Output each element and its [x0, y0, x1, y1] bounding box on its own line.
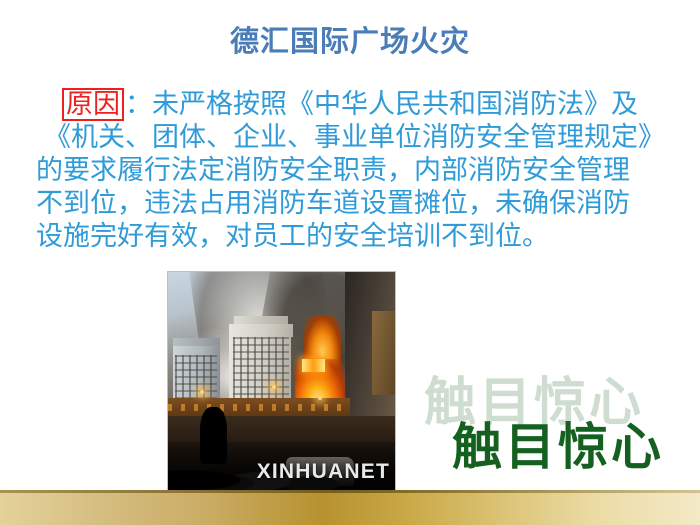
emphasis-text: 触目惊心: [452, 407, 664, 479]
body-line-3: 的要求履行法定消防安全职责，内部消防安全管理: [36, 154, 672, 187]
page-title: 德汇国际广场火灾: [0, 27, 700, 59]
body-line-1: 原因：未严格按照《中华人民共和国消防法》及: [36, 88, 672, 121]
slide-canvas: 德汇国际广场火灾 原因：未严格按照《中华人民共和国消防法》及 《机关、团体、企业…: [0, 0, 700, 525]
photo-watermark: XINHUANET: [257, 460, 390, 484]
photo-building-far-right: [345, 272, 395, 433]
body-line-1-text: ：未严格按照《中华人民共和国消防法》及: [125, 89, 638, 119]
body-line-4: 不到位，违法占用消防车道设置摊位，未确保消防: [36, 187, 672, 220]
body-paragraph: 原因：未严格按照《中华人民共和国消防法》及 《机关、团体、企业、事业单位消防安全…: [36, 88, 672, 253]
footer-gold-bar: [0, 490, 700, 525]
fire-photo: XINHUANET: [168, 272, 395, 490]
photo-streetlamp-1: [200, 390, 204, 394]
body-line-2: 《机关、团体、企业、事业单位消防安全管理规定》: [36, 121, 672, 154]
photo-burning-window: [302, 359, 325, 372]
body-line-5: 设施完好有效，对员工的安全培训不到位。: [36, 220, 672, 253]
cause-label-boxed: 原因: [62, 88, 124, 121]
